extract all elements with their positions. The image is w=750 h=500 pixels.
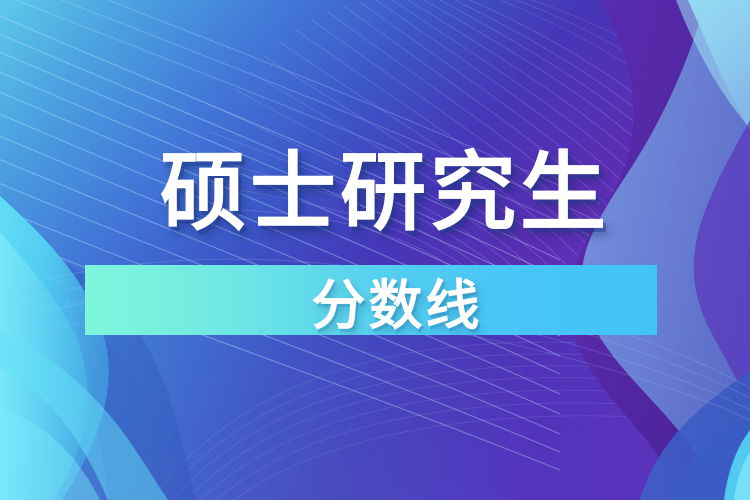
mid-sweep-highlight [0, 0, 750, 500]
subtitle-text: 分数线 [85, 265, 657, 335]
subtitle-bar: 分数线 [85, 265, 657, 335]
banner-image: 硕士研究生 分数线 [0, 0, 750, 500]
